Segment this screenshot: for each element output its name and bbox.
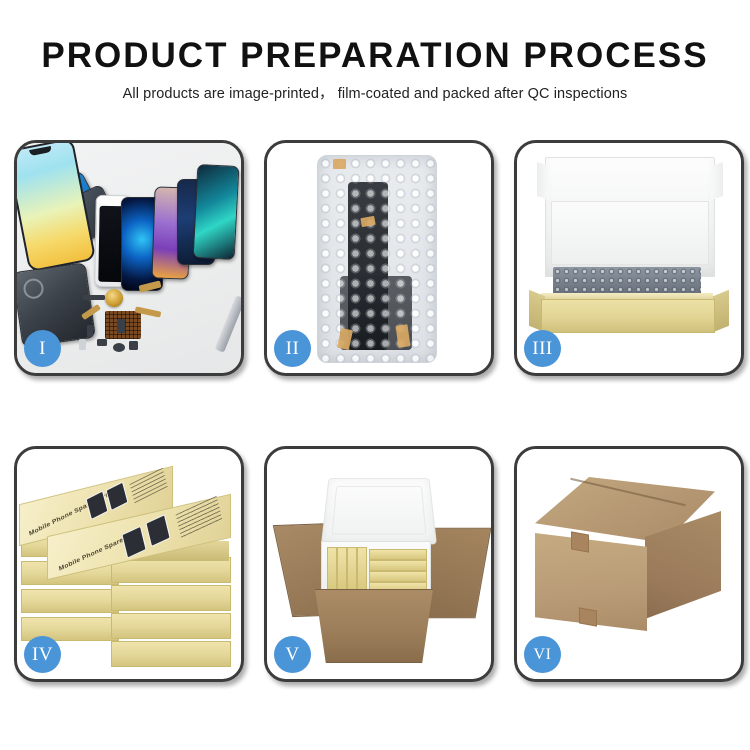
step-panel-3[interactable]: III <box>514 140 744 376</box>
step-panel-4[interactable]: Mobile Phone Spare Parts Mobile Phone Sp… <box>14 446 244 682</box>
small-part <box>87 325 93 337</box>
small-part <box>97 339 107 346</box>
header: PRODUCT PREPARATION PROCESS All products… <box>0 34 750 104</box>
step-panel-2[interactable]: II <box>264 140 494 376</box>
product-preparation-infographic: PRODUCT PREPARATION PROCESS All products… <box>0 0 750 750</box>
bubble-texture-overlay <box>318 156 436 362</box>
packed-box <box>357 547 367 591</box>
phone-screen-teal <box>193 164 240 260</box>
packed-box <box>337 547 347 591</box>
box-right-side <box>713 290 729 332</box>
speaker-coil-part <box>105 289 123 307</box>
packed-box <box>369 549 427 560</box>
step-badge-5: V <box>274 636 311 673</box>
box-label-image <box>145 514 170 547</box>
packed-box <box>369 560 427 571</box>
repair-tool <box>215 295 241 353</box>
box-label-image <box>121 526 146 559</box>
carton-tape <box>579 607 597 626</box>
page-subtitle: All products are image-printed， film-coa… <box>0 85 750 104</box>
stacked-box <box>111 613 231 639</box>
step-badge-1: I <box>24 330 61 367</box>
foam-box-lid <box>321 478 437 544</box>
stacked-box <box>21 589 119 613</box>
small-part <box>113 343 125 352</box>
step-panel-1[interactable]: I <box>14 140 244 376</box>
page-title: PRODUCT PREPARATION PROCESS <box>0 34 750 78</box>
phone-front-large <box>17 143 96 272</box>
packed-box <box>347 547 357 591</box>
packed-box <box>327 547 337 591</box>
small-part <box>79 339 86 350</box>
box-front-panel <box>541 299 715 333</box>
foam-sheet <box>551 201 709 265</box>
box-label-image <box>105 481 128 511</box>
bubble-wrap-bag <box>317 155 437 363</box>
small-part <box>129 341 138 350</box>
step-badge-6: VI <box>524 636 561 673</box>
step-badge-3: III <box>524 330 561 367</box>
carton-tape <box>571 531 589 552</box>
packed-box <box>369 571 427 582</box>
stacked-box <box>111 585 231 611</box>
step-badge-2: II <box>274 330 311 367</box>
box-label-lines <box>176 496 223 539</box>
carton-body <box>307 589 441 663</box>
stacked-box <box>111 641 231 667</box>
box-label-lines <box>130 468 169 506</box>
step-badge-4: IV <box>24 636 61 673</box>
process-steps-grid: I II <box>14 140 738 676</box>
step-panel-6[interactable]: VI <box>514 446 744 682</box>
small-part <box>117 319 125 333</box>
step-panel-5[interactable]: V <box>264 446 494 682</box>
small-part <box>83 295 105 300</box>
tape-strip <box>333 159 346 169</box>
